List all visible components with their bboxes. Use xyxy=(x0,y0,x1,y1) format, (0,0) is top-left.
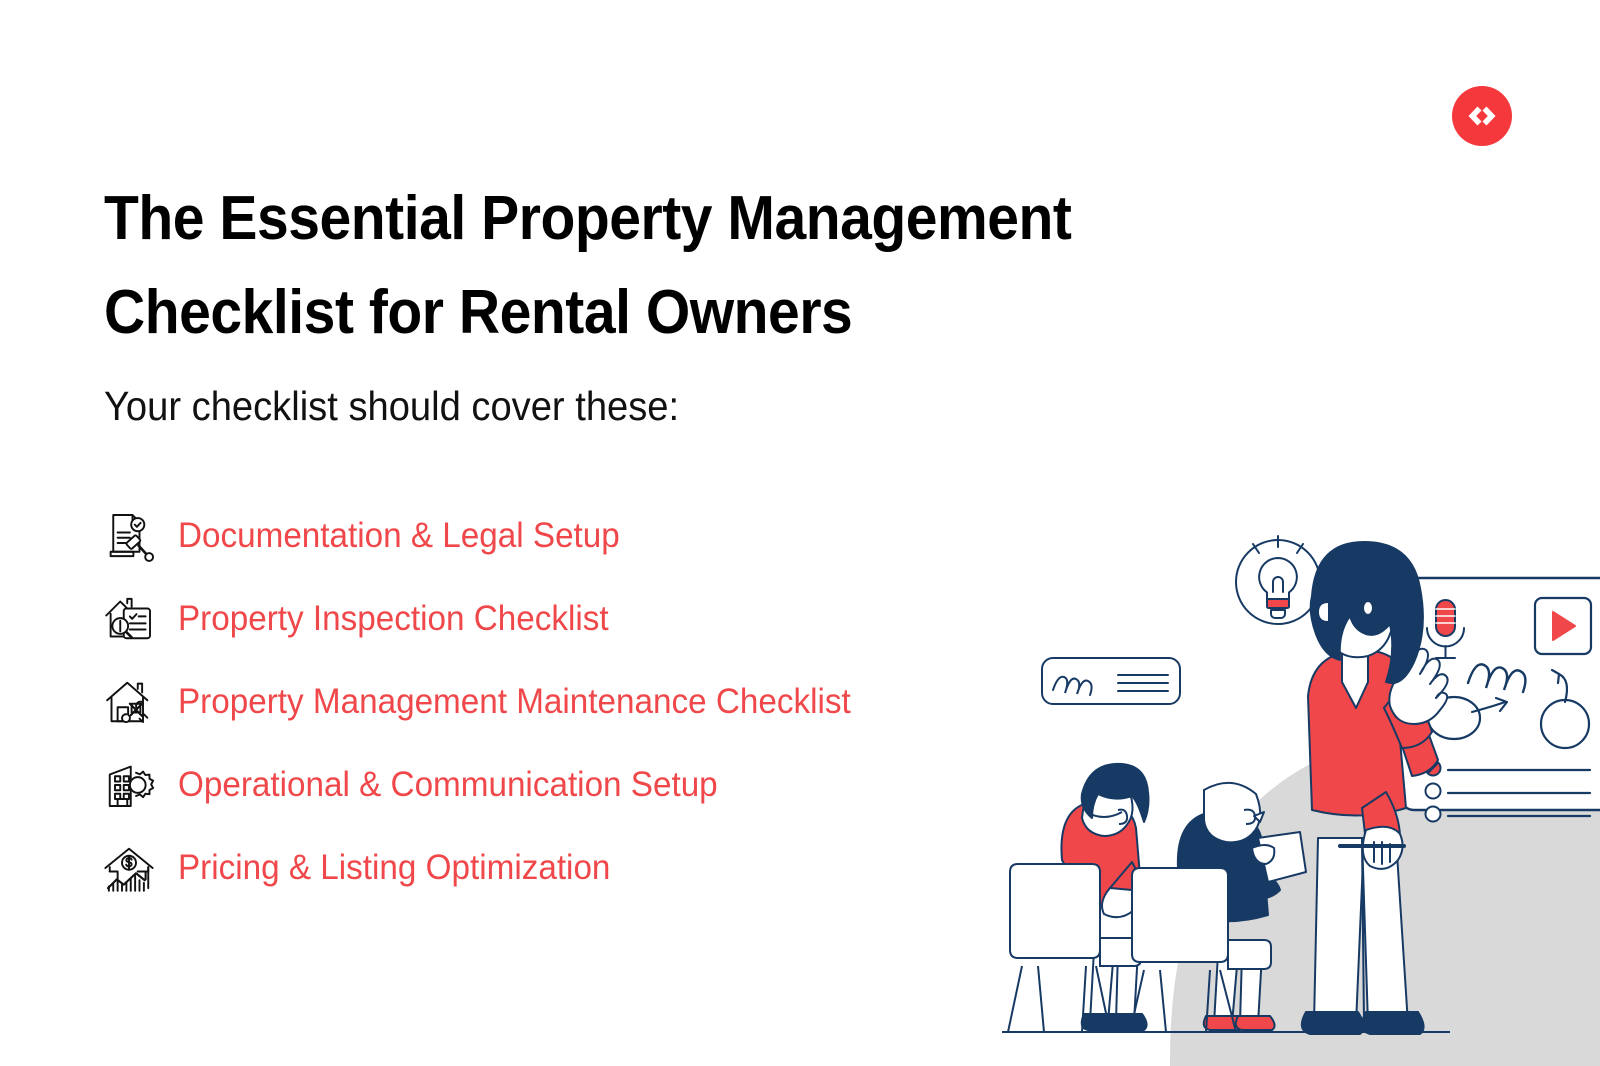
page-subtitle: Your checklist should cover these: xyxy=(104,382,679,431)
poster-canvas: The Essential Property Management Checkl… xyxy=(0,0,1600,1066)
list-item-label: Operational & Communication Setup xyxy=(178,767,718,802)
list-item-label: Pricing & Listing Optimization xyxy=(178,850,610,885)
house-magnifier-checklist-icon xyxy=(96,586,162,652)
code-brackets-icon xyxy=(1452,86,1512,146)
house-tools-icon xyxy=(96,669,162,735)
speech-card-icon xyxy=(1042,658,1180,704)
house-dollar-chart-icon xyxy=(96,835,162,901)
lightbulb-idea-icon xyxy=(1236,536,1320,624)
presentation-meeting-illustration xyxy=(990,520,1600,1066)
list-item-label: Property Inspection Checklist xyxy=(178,601,609,636)
list-item-label: Documentation & Legal Setup xyxy=(178,518,620,553)
list-item-label: Property Management Maintenance Checklis… xyxy=(178,684,851,719)
seated-person-red-shirt xyxy=(1008,764,1149,1032)
building-gear-icon xyxy=(96,752,162,818)
page-title: The Essential Property Management Checkl… xyxy=(104,172,1291,360)
document-gavel-icon xyxy=(96,503,162,569)
brand-logo-badge[interactable] xyxy=(1452,86,1512,146)
play-button-icon xyxy=(1535,598,1591,654)
